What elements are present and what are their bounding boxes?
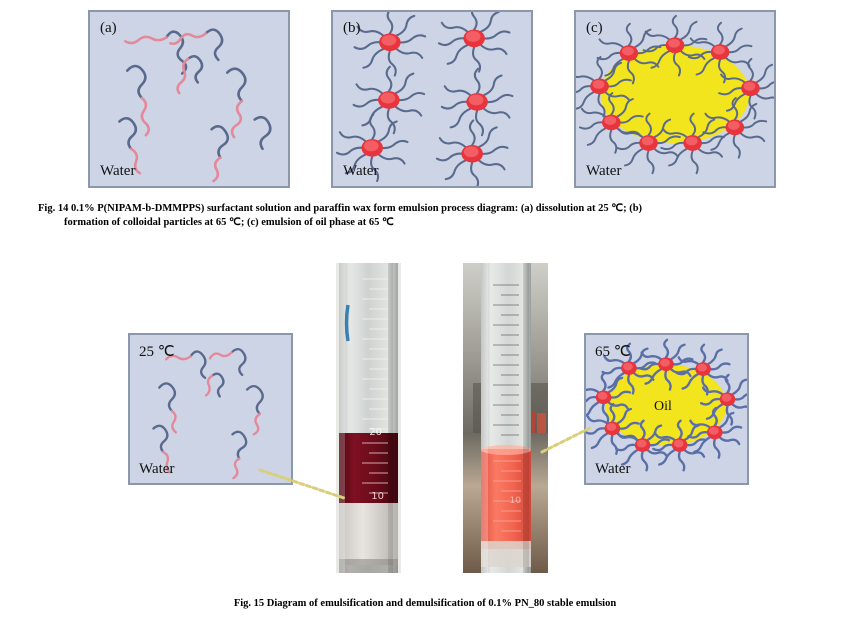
panel-65c-tag: 65 ℃ [595, 342, 631, 361]
graduation-label-10-right: 10 [510, 496, 522, 506]
photo-demulsified-cylinder: 20 10 [336, 263, 401, 573]
panel-25c-tag: 25 ℃ [139, 342, 175, 361]
figure14-panel-b: (b) Water [331, 10, 533, 188]
panel-65c-phase-label: Water [595, 461, 630, 478]
panel-c-artwork [576, 12, 774, 186]
panel-c-phase-label: Water [586, 163, 621, 180]
connector-left-line [258, 462, 348, 504]
panel-a-phase-label: Water [100, 163, 135, 180]
panel-b-artwork [333, 12, 531, 186]
figure15-panel-65c: 65 ℃ Oil Water [584, 333, 749, 485]
panel-a-artwork [90, 12, 288, 186]
panel-25c-phase-label: Water [139, 461, 174, 478]
connector-right [540, 422, 592, 456]
panel-a-tag: (a) [100, 20, 117, 37]
connector-left [258, 462, 348, 504]
panel-65c-oil-label: Oil [654, 399, 672, 415]
photo-emulsified-cylinder: 10 [463, 263, 548, 573]
panel-b-phase-label: Water [343, 163, 378, 180]
graduation-label-10: 10 [371, 491, 384, 502]
figure14-caption: Fig. 14 0.1% P(NIPAM-b-DMMPPS) surfactan… [38, 202, 813, 230]
figure14-caption-line1: Fig. 14 0.1% P(NIPAM-b-DMMPPS) surfactan… [38, 203, 642, 214]
graduation-label-20: 20 [369, 427, 382, 438]
photo-emulsified-artwork: 10 [463, 263, 548, 573]
connector-right-line [540, 422, 592, 456]
figure14-panel-a: (a) Water [88, 10, 290, 188]
figure15-caption: Fig. 15 Diagram of emulsification and de… [0, 598, 850, 609]
figure14-panel-c: (c) Water [574, 10, 776, 188]
photo-demulsified-artwork: 20 10 [336, 263, 401, 573]
figure14-caption-line2: formation of colloidal particles at 65 ℃… [38, 216, 813, 230]
panel-b-tag: (b) [343, 20, 361, 37]
panel-c-tag: (c) [586, 20, 603, 37]
